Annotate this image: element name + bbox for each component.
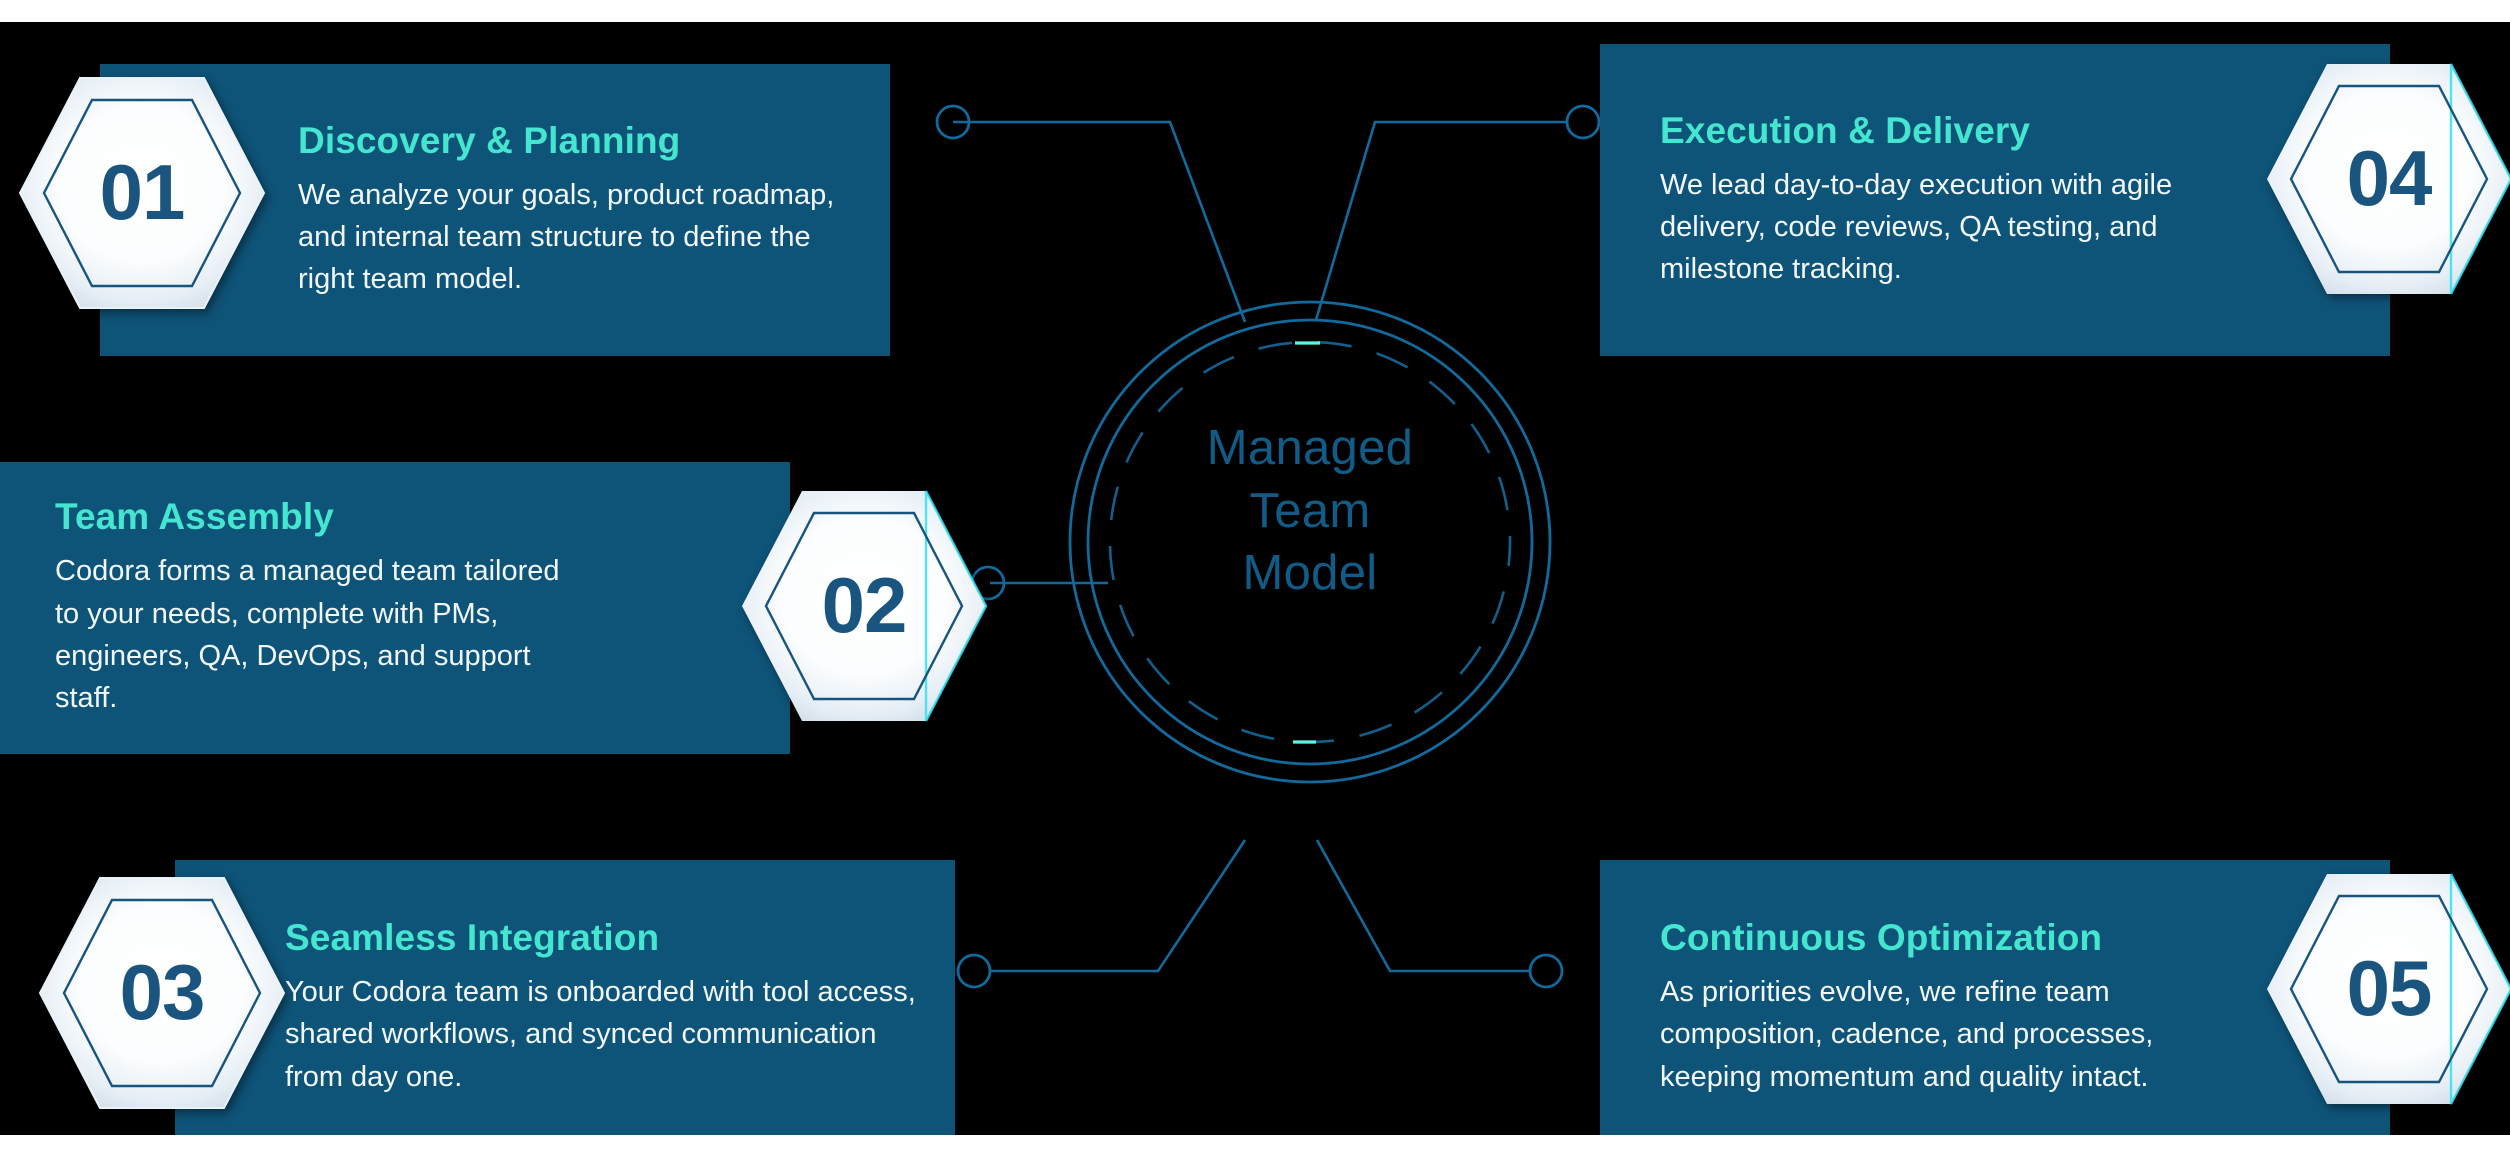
step-badge-05[interactable]: 05 [2265, 870, 2510, 1108]
hub-label: Managed Team Model [1110, 417, 1510, 605]
hub-label-line-1: Managed [1110, 417, 1510, 480]
step-card-04-title: Execution & Delivery [1660, 110, 2180, 152]
step-card-04-content: Execution & Delivery We lead day-to-day … [1660, 44, 2180, 356]
node-04 [1567, 106, 1599, 138]
step-card-05-title: Continuous Optimization [1660, 917, 2175, 959]
node-03 [958, 955, 990, 987]
step-badge-03[interactable]: 03 [38, 874, 286, 1112]
step-card-01-body: We analyze your goals, product roadmap, … [298, 174, 860, 301]
step-badge-02-number: 02 [740, 487, 988, 725]
hub-label-line-2: Team [1110, 480, 1510, 543]
step-badge-04[interactable]: 04 [2265, 60, 2510, 298]
spoke-01 [953, 122, 1245, 322]
step-card-04-body: We lead day-to-day execution with agile … [1660, 164, 2180, 291]
spoke-05 [1317, 840, 1530, 971]
step-badge-03-number: 03 [38, 874, 286, 1112]
step-badge-02[interactable]: 02 [740, 487, 988, 725]
step-card-05-body: As priorities evolve, we refine team com… [1660, 971, 2175, 1098]
step-card-02-content: Team Assembly Codora forms a managed tea… [55, 462, 560, 754]
step-card-02-title: Team Assembly [55, 496, 560, 538]
step-card-03[interactable]: Seamless Integration Your Codora team is… [175, 860, 955, 1135]
step-badge-01[interactable]: 01 [18, 74, 266, 312]
step-card-03-content: Seamless Integration Your Codora team is… [285, 860, 927, 1135]
step-card-02-body: Codora forms a managed team tailored to … [55, 550, 560, 719]
step-badge-05-number: 05 [2265, 870, 2510, 1108]
spoke-03 [990, 840, 1245, 971]
node-01 [937, 106, 969, 138]
step-card-05-content: Continuous Optimization As priorities ev… [1660, 860, 2175, 1135]
step-badge-04-number: 04 [2265, 60, 2510, 298]
step-card-01-title: Discovery & Planning [298, 120, 860, 162]
step-badge-01-number: 01 [18, 74, 266, 312]
step-card-03-body: Your Codora team is onboarded with tool … [285, 971, 927, 1098]
step-card-02[interactable]: Team Assembly Codora forms a managed tea… [0, 462, 790, 754]
step-card-03-title: Seamless Integration [285, 917, 927, 959]
node-05 [1530, 955, 1562, 987]
spoke-04 [1316, 122, 1567, 320]
infographic-stage: Managed Team Model Discovery & Planning … [0, 0, 2510, 1157]
diagram-canvas: Managed Team Model Discovery & Planning … [0, 22, 2510, 1135]
step-card-01-content: Discovery & Planning We analyze your goa… [298, 64, 860, 356]
hub-label-line-3: Model [1110, 542, 1510, 605]
